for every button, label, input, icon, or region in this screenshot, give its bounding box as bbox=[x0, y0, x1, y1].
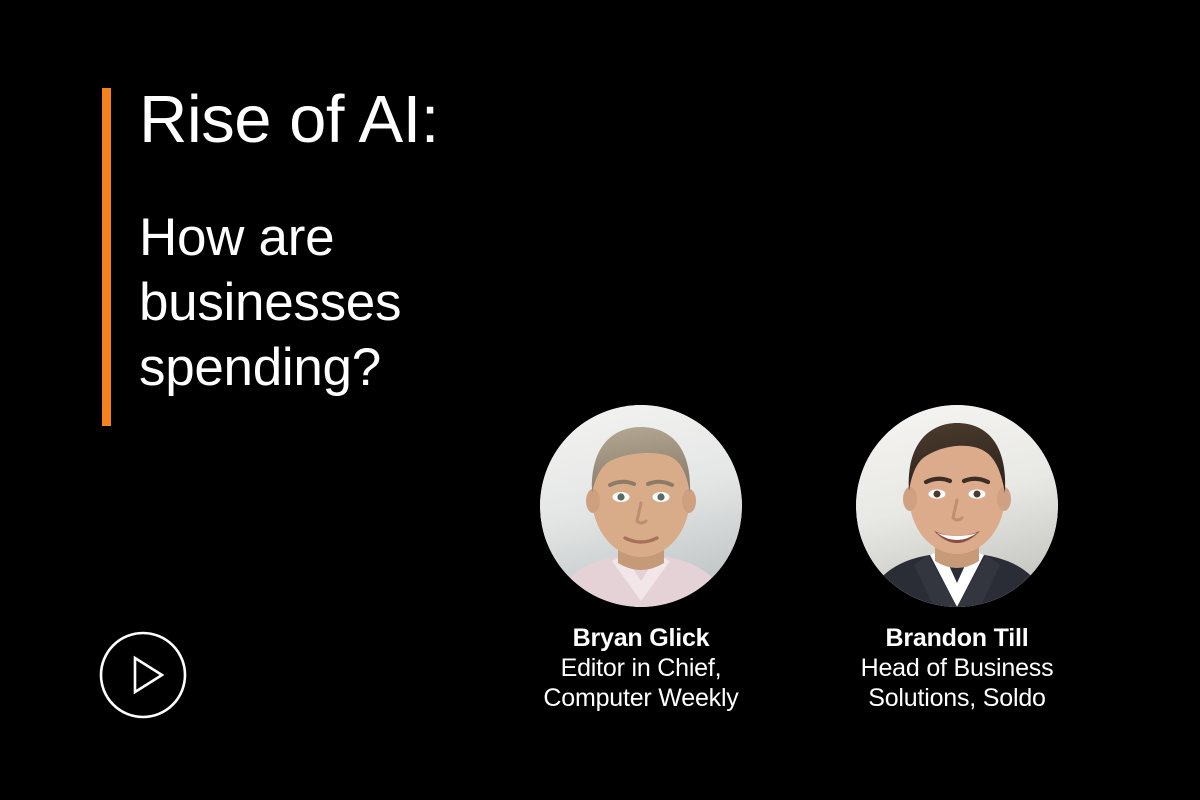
subtitle-line-2: businesses bbox=[139, 270, 569, 335]
speaker-avatar-2 bbox=[856, 405, 1058, 607]
slide-title: Rise of AI: bbox=[139, 86, 569, 153]
speaker-name-1: Bryan Glick bbox=[540, 625, 742, 652]
speaker-role-1-line-1: Editor in Chief, bbox=[540, 654, 742, 684]
speaker-role-1: Editor in Chief, Computer Weekly bbox=[540, 654, 742, 713]
speaker-card-2: Brandon Till Head of Business Solutions,… bbox=[856, 405, 1058, 713]
speaker-name-2: Brandon Till bbox=[856, 625, 1058, 652]
orange-accent-bar bbox=[102, 88, 111, 426]
play-circle-outline bbox=[101, 633, 185, 717]
play-triangle-icon bbox=[135, 658, 162, 692]
speaker-role-2-line-1: Head of Business bbox=[856, 654, 1058, 684]
headline-block: Rise of AI: How are businesses spending? bbox=[139, 86, 569, 401]
slide-subtitle: How are businesses spending? bbox=[139, 205, 569, 401]
speaker-role-2: Head of Business Solutions, Soldo bbox=[856, 654, 1058, 713]
speaker-avatar-1 bbox=[540, 405, 742, 607]
subtitle-line-1: How are bbox=[139, 205, 569, 270]
speaker-card-1: Bryan Glick Editor in Chief, Computer We… bbox=[540, 405, 742, 713]
speaker-role-2-line-2: Solutions, Soldo bbox=[856, 684, 1058, 714]
speaker-list: Bryan Glick Editor in Chief, Computer We… bbox=[540, 405, 1160, 713]
subtitle-line-3: spending? bbox=[139, 335, 569, 400]
play-button[interactable] bbox=[99, 631, 187, 719]
slide-canvas: Rise of AI: How are businesses spending? bbox=[0, 0, 1200, 800]
speaker-role-1-line-2: Computer Weekly bbox=[540, 684, 742, 714]
